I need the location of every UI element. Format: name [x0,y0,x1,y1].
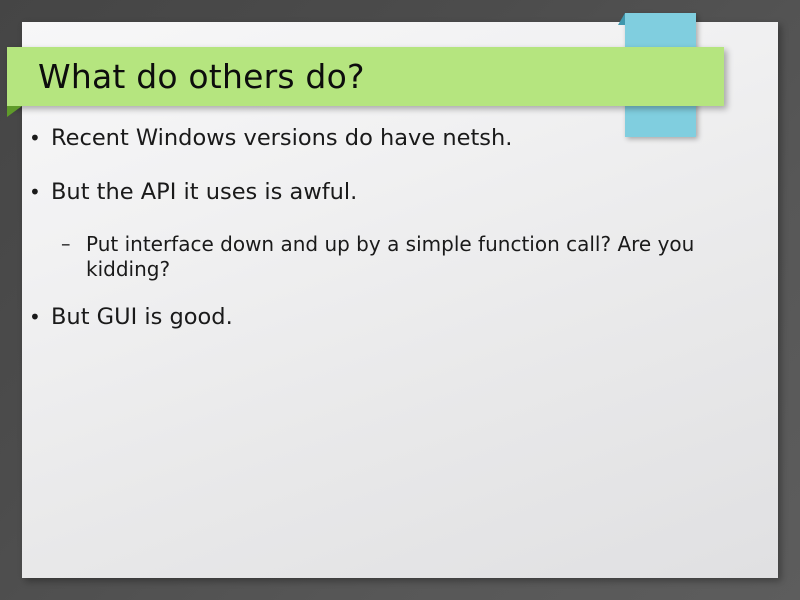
list-item: • But GUI is good. [0,304,756,331]
list-item-text: But the API it uses is awful. [51,179,716,206]
list-item-text: Recent Windows versions do have netsh. [51,125,716,152]
bullet-dot-icon: • [29,125,51,151]
list-item: • Recent Windows versions do have netsh. [0,125,756,152]
bullet-dot-icon: • [29,304,51,330]
list-item: • But the API it uses is awful. [0,179,756,206]
sub-list-item-text: Put interface down and up by a simple fu… [86,232,738,282]
title-banner-fold-icon [7,106,22,117]
slide-body: • Recent Windows versions do have netsh.… [0,125,756,357]
page-title: What do others do? [7,60,365,93]
sub-list-item: – Put interface down and up by a simple … [0,232,756,282]
presentation-stage: What do others do? • Recent Windows vers… [0,0,800,600]
title-banner: What do others do? [7,47,724,106]
blue-accent-fold-icon [618,13,625,25]
bullet-dot-icon: • [29,179,51,205]
bullet-dash-icon: – [61,232,86,257]
list-item-text: But GUI is good. [51,304,716,331]
